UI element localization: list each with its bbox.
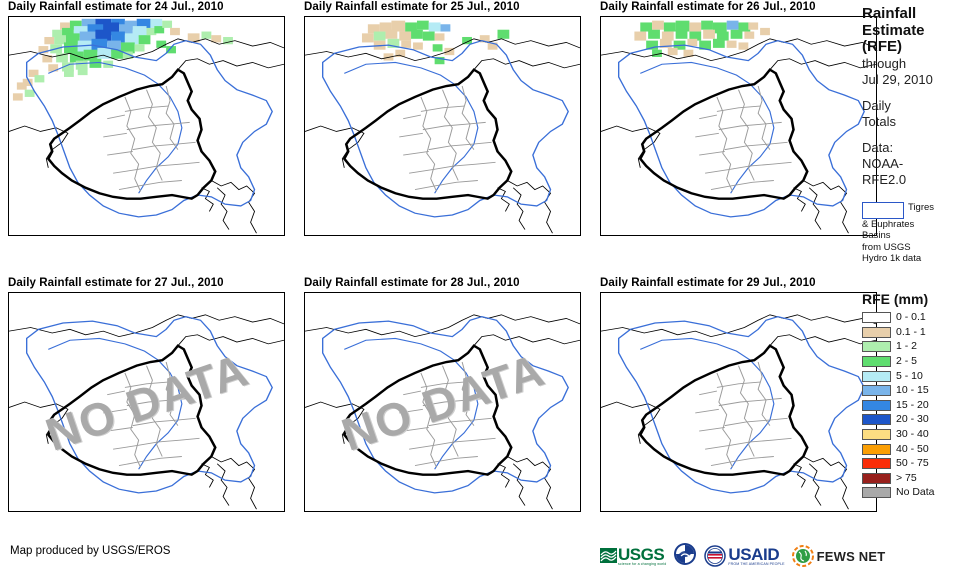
basin-line5: Hydro 1k data <box>862 253 967 265</box>
rfe-class-label: 40 - 50 <box>896 444 929 455</box>
map-graphic <box>9 17 284 235</box>
fewsnet-globe-icon <box>792 545 814 567</box>
map-frame[interactable]: NO DATA <box>304 292 581 512</box>
rfe-swatch <box>862 356 891 367</box>
panel-title: Daily Rainfall estimate for 28 Jul., 201… <box>296 276 581 292</box>
map-graphic <box>601 293 876 511</box>
rfe-class-label: 5 - 10 <box>896 371 923 382</box>
rfe-swatch <box>862 429 891 440</box>
usgs-logo-text: USGS <box>618 546 666 563</box>
legend-period-line2: Totals <box>862 114 967 130</box>
rfe-class-row: 5 - 10 <box>862 369 967 384</box>
map-panel-1[interactable]: Daily Rainfall estimate for 24 Jul., 201… <box>0 0 285 236</box>
map-panel-2[interactable]: Daily Rainfall estimate for 25 Jul., 201… <box>296 0 581 236</box>
map-graphic <box>601 17 876 235</box>
rfe-class-label: > 75 <box>896 473 917 484</box>
rfe-swatch <box>862 327 891 338</box>
rfe-class-row: 1 - 2 <box>862 340 967 355</box>
map-graphic <box>9 293 284 511</box>
rfe-class-row: > 75 <box>862 471 967 486</box>
basin-line2: & Euphrates <box>862 219 967 231</box>
rfe-class-label: 0 - 0.1 <box>896 312 926 323</box>
usgs-mark-icon <box>600 546 618 566</box>
fewsnet-logo: FEWS NET <box>792 545 886 567</box>
rfe-swatch <box>862 487 891 498</box>
rfe-class-label: 10 - 15 <box>896 385 929 396</box>
legend-panel: Rainfall Estimate (RFE) through Jul 29, … <box>862 6 967 536</box>
rfe-class-label: No Data <box>896 487 935 498</box>
rfe-swatch <box>862 458 891 469</box>
map-graphic <box>305 17 580 235</box>
legend-data-line3: RFE2.0 <box>862 172 967 188</box>
rfe-class-label: 50 - 75 <box>896 458 929 469</box>
legend-data-line1: Data: <box>862 140 967 156</box>
rfe-swatch <box>862 385 891 396</box>
map-panel-6[interactable]: Daily Rainfall estimate for 29 Jul., 201… <box>592 276 877 512</box>
usaid-seal-icon <box>704 545 726 567</box>
usaid-logo-tagline: FROM THE AMERICAN PEOPLE <box>728 563 784 567</box>
rfe-legend-heading: RFE (mm) <box>862 291 967 307</box>
usgs-logo-tagline: science for a changing world <box>618 563 666 567</box>
panel-title: Daily Rainfall estimate for 25 Jul., 201… <box>296 0 581 16</box>
rfe-swatch <box>862 341 891 352</box>
basin-swatch <box>862 202 904 219</box>
panel-title: Daily Rainfall estimate for 26 Jul., 201… <box>592 0 877 16</box>
noaa-logo <box>673 542 697 571</box>
legend-date: Jul 29, 2010 <box>862 72 967 88</box>
panel-title: Daily Rainfall estimate for 29 Jul., 201… <box>592 276 877 292</box>
map-frame[interactable] <box>304 16 581 236</box>
rfe-class-row: 40 - 50 <box>862 442 967 457</box>
map-frame[interactable]: NO DATA <box>8 292 285 512</box>
rfe-class-label: 30 - 40 <box>896 429 929 440</box>
rfe-swatch <box>862 473 891 484</box>
rfe-class-row: 0 - 0.1 <box>862 311 967 326</box>
legend-title-line1: Rainfall <box>862 6 967 23</box>
map-frame[interactable] <box>8 16 285 236</box>
rfe-class-row: 50 - 75 <box>862 456 967 471</box>
map-panel-grid: Daily Rainfall estimate for 24 Jul., 201… <box>0 0 855 536</box>
map-graphic <box>305 293 580 511</box>
usaid-logo-text: USAID <box>728 546 784 563</box>
map-credit: Map produced by USGS/EROS <box>10 545 170 557</box>
rfe-class-row: 2 - 5 <box>862 354 967 369</box>
rfe-class-row: 15 - 20 <box>862 398 967 413</box>
usaid-logo: USAID FROM THE AMERICAN PEOPLE <box>704 545 784 567</box>
basin-line3: Basins <box>862 230 967 242</box>
rfe-class-label: 15 - 20 <box>896 400 929 411</box>
legend-title-line3: (RFE) <box>862 39 967 56</box>
basin-line4: from USGS <box>862 242 967 254</box>
rfe-class-row: 10 - 15 <box>862 383 967 398</box>
rfe-swatch <box>862 444 891 455</box>
legend-through: through <box>862 56 967 72</box>
map-panel-4[interactable]: Daily Rainfall estimate for 27 Jul., 201… <box>0 276 285 512</box>
rfe-class-label: 1 - 2 <box>896 341 917 352</box>
basin-label: Tigres <box>908 202 934 214</box>
usgs-logo: USGS science for a changing world <box>600 546 666 567</box>
rfe-swatch <box>862 414 891 425</box>
map-panel-5[interactable]: Daily Rainfall estimate for 28 Jul., 201… <box>296 276 581 512</box>
rfe-class-row: 20 - 30 <box>862 413 967 428</box>
rfe-class-row: 30 - 40 <box>862 427 967 442</box>
map-panel-3[interactable]: Daily Rainfall estimate for 26 Jul., 201… <box>592 0 877 236</box>
panel-title: Daily Rainfall estimate for 27 Jul., 201… <box>0 276 285 292</box>
legend-title-line2: Estimate <box>862 23 967 40</box>
map-frame[interactable] <box>600 16 877 236</box>
basin-legend-entry: Tigres <box>862 202 967 219</box>
map-frame[interactable] <box>600 292 877 512</box>
noaa-seal-icon <box>673 542 697 566</box>
rfe-swatch <box>862 312 891 323</box>
legend-period-line1: Daily <box>862 98 967 114</box>
rfe-swatch <box>862 400 891 411</box>
rfe-class-label: 20 - 30 <box>896 414 929 425</box>
rfe-class-row: 0.1 - 1 <box>862 325 967 340</box>
partner-logos: USGS science for a changing world USAID … <box>600 541 885 571</box>
fewsnet-logo-text: FEWS NET <box>817 549 886 564</box>
rfe-class-list: 0 - 0.1 0.1 - 1 1 - 2 2 - 5 5 - 10 10 - … <box>862 311 967 501</box>
rfe-class-label: 0.1 - 1 <box>896 327 926 338</box>
rfe-class-row: No Data <box>862 486 967 501</box>
panel-title: Daily Rainfall estimate for 24 Jul., 201… <box>0 0 285 16</box>
rfe-class-label: 2 - 5 <box>896 356 917 367</box>
rfe-swatch <box>862 371 891 382</box>
legend-data-line2: NOAA- <box>862 156 967 172</box>
